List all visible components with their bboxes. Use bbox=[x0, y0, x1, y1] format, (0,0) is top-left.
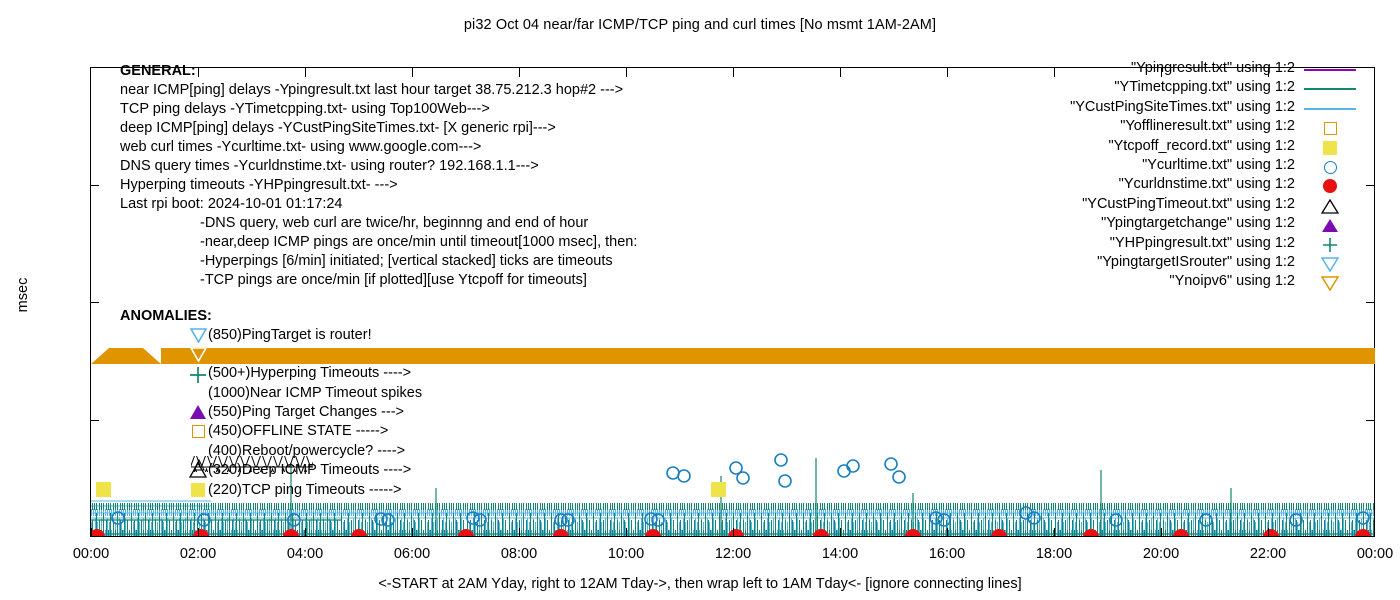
legend-key-open-triangle-down-lightblue bbox=[1300, 254, 1360, 273]
legend-item-2[interactable]: "YCustPingSiteTimes.txt" using 1:2 bbox=[955, 99, 1295, 118]
xtick-label-11: 22:00 bbox=[1208, 546, 1328, 562]
legend-key-open-triangle-up-black bbox=[1300, 196, 1360, 215]
open-triangle-down-blue-icon bbox=[190, 328, 207, 343]
general-heading: GENERAL: bbox=[120, 63, 637, 79]
xtick-label-9: 18:00 bbox=[994, 546, 1114, 562]
legend-item-9[interactable]: "YHPpingresult.txt" using 1:2 bbox=[955, 235, 1295, 254]
general-line-5: Hyperping timeouts -YHPpingresult.txt- -… bbox=[120, 177, 637, 193]
xtick-label-7: 14:00 bbox=[780, 546, 900, 562]
legend-item-7[interactable]: "YCustPingTimeout.txt" using 1:2 bbox=[955, 196, 1295, 215]
xtick-label-1: 02:00 bbox=[138, 546, 258, 562]
legend-key-line-lightblue bbox=[1300, 99, 1360, 118]
legend-item-10[interactable]: "YpingtargetISrouter" using 1:2 bbox=[955, 254, 1295, 273]
anomalies-heading: ANOMALIES: bbox=[120, 308, 212, 324]
anomaly-item-400: (400)Reboot/powercycle? ----> bbox=[208, 443, 405, 459]
legend-key-open-square-orange bbox=[1300, 118, 1360, 137]
legend-label-3: "Yofflineresult.txt" using 1:2 bbox=[1120, 118, 1295, 134]
general-indented-line-1: -near,deep ICMP pings are once/min until… bbox=[120, 234, 637, 250]
open-square-orange-icon bbox=[192, 425, 205, 438]
general-indented-line-0: -DNS query, web curl are twice/hr, begin… bbox=[120, 215, 637, 231]
general-indented-line-3: -TCP pings are once/min [if plotted][use… bbox=[120, 272, 637, 288]
xtick-label-2: 04:00 bbox=[245, 546, 365, 562]
general-annotation-block: GENERAL: near ICMP[ping] delays -Ypingre… bbox=[120, 63, 637, 288]
anomaly-item-450: (450)OFFLINE STATE -----> bbox=[208, 423, 388, 439]
legend-label-9: "YHPpingresult.txt" using 1:2 bbox=[1110, 235, 1295, 251]
general-indented-line-2: -Hyperpings [6/min] initiated; [vertical… bbox=[120, 253, 637, 269]
filled-square-yellow-icon bbox=[191, 483, 205, 497]
x-axis-label: <-START at 2AM Yday, right to 12AM Tday-… bbox=[0, 576, 1400, 592]
general-line-4: DNS query times -Ycurldnstime.txt- using… bbox=[120, 158, 637, 174]
legend-item-11[interactable]: "Ynoipv6" using 1:2 bbox=[955, 273, 1295, 292]
legend-key-open-circle-blue bbox=[1300, 157, 1360, 176]
legend-item-4[interactable]: "Ytcpoff_record.txt" using 1:2 bbox=[955, 138, 1295, 157]
xtick-label-3: 06:00 bbox=[352, 546, 472, 562]
legend-item-5[interactable]: "Ycurltime.txt" using 1:2 bbox=[955, 157, 1295, 176]
legend-key-line-purple bbox=[1300, 60, 1360, 79]
open-triangle-up-black-icon bbox=[189, 462, 207, 478]
anomaly-item-220: (220)TCP ping Timeouts -----> bbox=[208, 482, 402, 498]
legend-label-6: "Ycurldnstime.txt" using 1:2 bbox=[1119, 176, 1295, 192]
legend-key-plus-teal bbox=[1300, 235, 1360, 254]
xtick-label-5: 10:00 bbox=[566, 546, 686, 562]
legend-label-5: "Ycurltime.txt" using 1:2 bbox=[1142, 157, 1295, 173]
legend-key-line-teal bbox=[1300, 79, 1360, 98]
xtick-label-0: 00:00 bbox=[31, 546, 151, 562]
filled-triangle-up-purple-icon bbox=[189, 404, 207, 420]
noipv6-band-mid-notch bbox=[143, 348, 161, 364]
noipv6-band-overlay bbox=[208, 348, 1375, 364]
legend-item-6[interactable]: "Ycurldnstime.txt" using 1:2 bbox=[955, 176, 1295, 195]
legend-key-filled-square-yellow bbox=[1300, 138, 1360, 157]
xtick-label-4: 08:00 bbox=[459, 546, 579, 562]
general-line-3: web curl times -Ycurltime.txt- using www… bbox=[120, 139, 637, 155]
anomaly-item-1000: (1000)Near ICMP Timeout spikes bbox=[208, 385, 422, 401]
y-axis-label: msec bbox=[15, 250, 31, 340]
general-line-1: TCP ping delays -YTimetcpping.txt- using… bbox=[120, 101, 637, 117]
anomaly-item-550: (550)Ping Target Changes ---> bbox=[208, 404, 404, 420]
page-title: pi32 Oct 04 near/far ICMP/TCP ping and c… bbox=[0, 17, 1400, 33]
legend-item-0[interactable]: "Ypingresult.txt" using 1:2 bbox=[955, 60, 1295, 79]
legend-label-4: "Ytcpoff_record.txt" using 1:2 bbox=[1108, 138, 1295, 154]
legend-item-8[interactable]: "Ypingtargetchange" using 1:2 bbox=[955, 215, 1295, 234]
legend-item-3[interactable]: "Yofflineresult.txt" using 1:2 bbox=[955, 118, 1295, 137]
legend-label-1: "YTimetcpping.txt" using 1:2 bbox=[1114, 79, 1295, 95]
legend-label-0: "Ypingresult.txt" using 1:2 bbox=[1131, 60, 1295, 76]
xtick-label-6: 12:00 bbox=[673, 546, 793, 562]
legend-label-8: "Ypingtargetchange" using 1:2 bbox=[1101, 215, 1295, 231]
legend-label-7: "YCustPingTimeout.txt" using 1:2 bbox=[1082, 196, 1295, 212]
plus-teal-icon bbox=[189, 366, 207, 384]
xtick-label-12: 00:00 bbox=[1315, 546, 1400, 562]
noipv6-band-left-notch bbox=[91, 348, 109, 364]
anomaly-item-320: (320)Deep ICMP Timeouts ----> bbox=[208, 462, 411, 478]
legend-item-1[interactable]: "YTimetcpping.txt" using 1:2 bbox=[955, 79, 1295, 98]
anomaly-item-850: (850)PingTarget is router! bbox=[208, 327, 372, 343]
general-line-0: near ICMP[ping] delays -Ypingresult.txt … bbox=[120, 82, 637, 98]
anomaly-item-500: (500+)Hyperping Timeouts ----> bbox=[208, 365, 411, 381]
xtick-label-8: 16:00 bbox=[887, 546, 1007, 562]
legend-label-2: "YCustPingSiteTimes.txt" using 1:2 bbox=[1070, 99, 1295, 115]
legend-key-filled-triangle-up-purple bbox=[1300, 215, 1360, 234]
legend: "Ypingresult.txt" using 1:2 "YTimetcppin… bbox=[955, 60, 1295, 293]
legend-key-filled-circle-red bbox=[1300, 176, 1360, 195]
general-line-6: Last rpi boot: 2024-10-01 01:17:24 bbox=[120, 196, 637, 212]
chart-page: pi32 Oct 04 near/far ICMP/TCP ping and c… bbox=[0, 0, 1400, 600]
open-triangle-down-orange-icon-top bbox=[190, 347, 207, 364]
xtick-label-10: 20:00 bbox=[1101, 546, 1221, 562]
legend-key-open-triangle-down-orange bbox=[1300, 273, 1360, 292]
general-line-2: deep ICMP[ping] delays -YCustPingSiteTim… bbox=[120, 120, 637, 136]
legend-label-11: "Ynoipv6" using 1:2 bbox=[1169, 273, 1295, 289]
legend-label-10: "YpingtargetISrouter" using 1:2 bbox=[1097, 254, 1295, 270]
